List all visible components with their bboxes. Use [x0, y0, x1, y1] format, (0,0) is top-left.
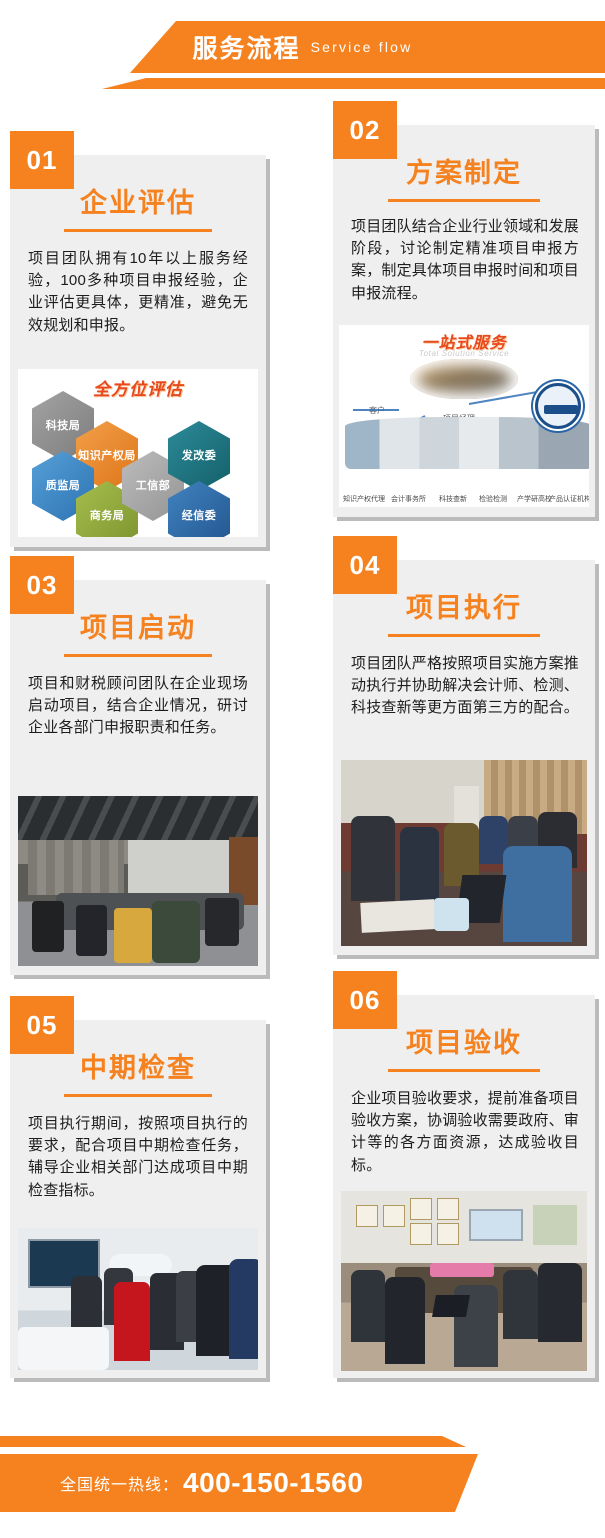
oss-bottom-label-3: 科技查新 — [439, 494, 467, 504]
card-body-03: 项目和财税顾问团队在企业现场启动项目，结合企业情况，研讨企业各部门申报职责和任务… — [10, 657, 266, 740]
card-number-badge-02: 02 — [333, 101, 397, 159]
card-photo-05 — [18, 1228, 258, 1370]
card-body-05: 项目执行期间，按照项目执行的要求，配合项目中期检查任务，辅导企业相关部门达成项目… — [10, 1097, 266, 1202]
one-stop-service-diagram: 一站式服务 Total Solution Service 客户 项目经理 知识产… — [339, 325, 589, 507]
oss-bottom-label-4: 检验检测 — [479, 494, 507, 504]
card-body-06: 企业项目验收要求，提前准备项目验收方案，协调验收需要政府、审计等的各方面资源，达… — [333, 1072, 595, 1177]
hex-node-label: 经信委 — [182, 510, 217, 523]
oss-bottom-label-5: 产学研高校 — [517, 494, 552, 504]
hex-node-label: 商务局 — [90, 510, 125, 523]
process-card-04: 04 项目执行 项目团队严格按照项目实施方案推动执行并协助解决会计师、检测、科技… — [333, 560, 595, 955]
oss-arrow-1 — [353, 409, 399, 411]
process-card-01: 01 企业评估 项目团队拥有10年以上服务经验，100多种项目申报经验，企业评估… — [10, 155, 266, 547]
page-subtitle: Service flow — [311, 39, 413, 55]
header-accent-line — [0, 78, 605, 89]
oss-bottom-label-6: 产品认证机构 — [549, 494, 589, 504]
card-body-04: 项目团队严格按照项目实施方案推动执行并协助解决会计师、检测、科技查新等更方面第三… — [333, 637, 595, 720]
card-body-01: 项目团队拥有10年以上服务经验，100多种项目申报经验，企业评估更具体，更精准，… — [10, 232, 266, 337]
hotline-label: 全国统一热线： — [60, 1471, 179, 1495]
process-card-02: 02 方案制定 项目团队结合企业行业领域和发展阶段，讨论制定精准项目申报方案，制… — [333, 125, 595, 517]
card-photo-04 — [341, 760, 587, 946]
hex-node-label: 发改委 — [182, 450, 217, 463]
assessment-hex-diagram: 全方位评估 科技局 知识产权局 质监局 商务局 工信部 发改委 经信委 — [18, 369, 258, 537]
card-number-badge-06: 06 — [333, 971, 397, 1029]
card-number-badge-01: 01 — [10, 131, 74, 189]
process-card-03: 03 项目启动 项目和财税顾问团队在企业现场启动项目，结合企业情况，研讨企业各部… — [10, 580, 266, 975]
hex-node-label: 质监局 — [46, 480, 81, 493]
card-photo-03 — [18, 796, 258, 966]
card-photo-06 — [341, 1191, 587, 1371]
footer-accent-line — [0, 1436, 605, 1447]
hotline-number[interactable]: 400-150-1560 — [183, 1467, 363, 1499]
process-card-05: 05 中期检查 项目执行期间，按照项目执行的要求，配合项目中期检查任务，辅导企业… — [10, 1020, 266, 1378]
oss-bottom-label-1: 知识产权代理 — [343, 494, 385, 504]
page-footer: 全国统一热线： 400-150-1560 — [0, 1400, 605, 1538]
header-title-group: 服务流程 Service flow — [0, 21, 605, 73]
hex-node-label: 知识产权局 — [78, 450, 136, 463]
oss-bottom-label-2: 会计事务所 — [391, 494, 426, 504]
oss-center-photo — [410, 359, 518, 399]
footer-hotline-group: 全国统一热线： 400-150-1560 — [0, 1454, 363, 1512]
card-number-badge-03: 03 — [10, 556, 74, 614]
process-card-06: 06 项目验收 企业项目验收要求，提前准备项目验收方案，协调验收需要政府、审计等… — [333, 995, 595, 1378]
certification-seal-icon — [535, 383, 581, 429]
card-body-02: 项目团队结合企业行业领域和发展阶段，讨论制定精准项目申报方案，制定具体项目申报时… — [333, 202, 595, 305]
page-title: 服务流程 — [193, 29, 301, 65]
hex-diagram-title: 全方位评估 — [93, 375, 183, 400]
card-number-badge-04: 04 — [333, 536, 397, 594]
hex-node-label: 科技局 — [46, 420, 81, 433]
page-header: 服务流程 Service flow — [0, 0, 605, 112]
card-number-badge-05: 05 — [10, 996, 74, 1054]
oss-subtitle: Total Solution Service — [419, 349, 509, 358]
hex-node-label: 工信部 — [136, 480, 171, 493]
